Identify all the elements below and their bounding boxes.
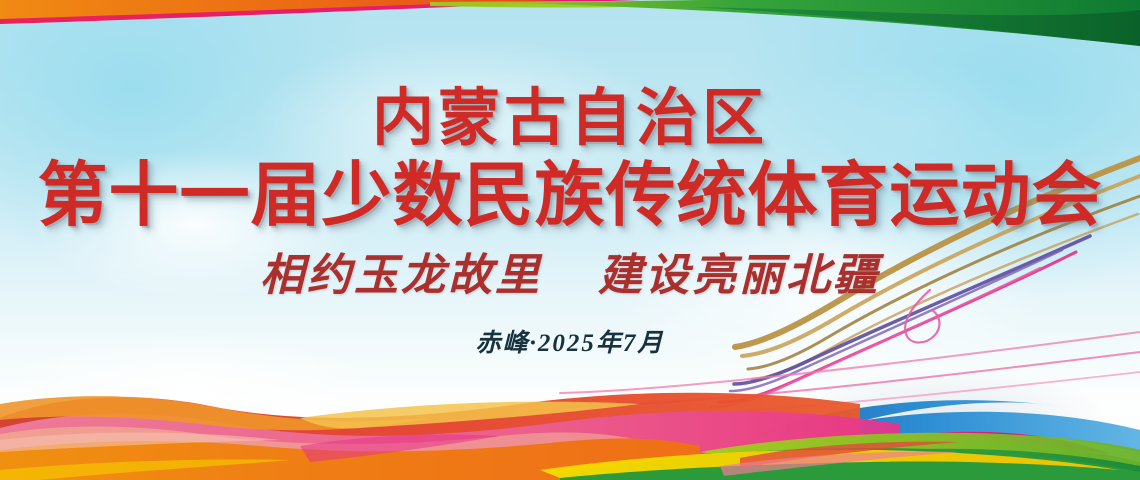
banner-text-stack: 内蒙古自治区 第十一届少数民族传统体育运动会 相约玉龙故里 建设亮丽北疆 赤峰·… <box>0 0 1140 356</box>
sports-meet-banner: 内蒙古自治区 第十一届少数民族传统体育运动会 相约玉龙故里 建设亮丽北疆 赤峰·… <box>0 0 1140 480</box>
slogan-right: 建设亮丽北疆 <box>598 251 880 300</box>
page-title-line-2: 第十一届少数民族传统体育运动会 <box>0 150 1140 230</box>
slogan: 相约玉龙故里 建设亮丽北疆 <box>0 230 1140 298</box>
page-title-line-1: 内蒙古自治区 <box>0 0 1140 150</box>
slogan-left: 相约玉龙故里 <box>260 251 542 300</box>
date-location-stamp: 赤峰·2025年7月 <box>0 298 1140 356</box>
